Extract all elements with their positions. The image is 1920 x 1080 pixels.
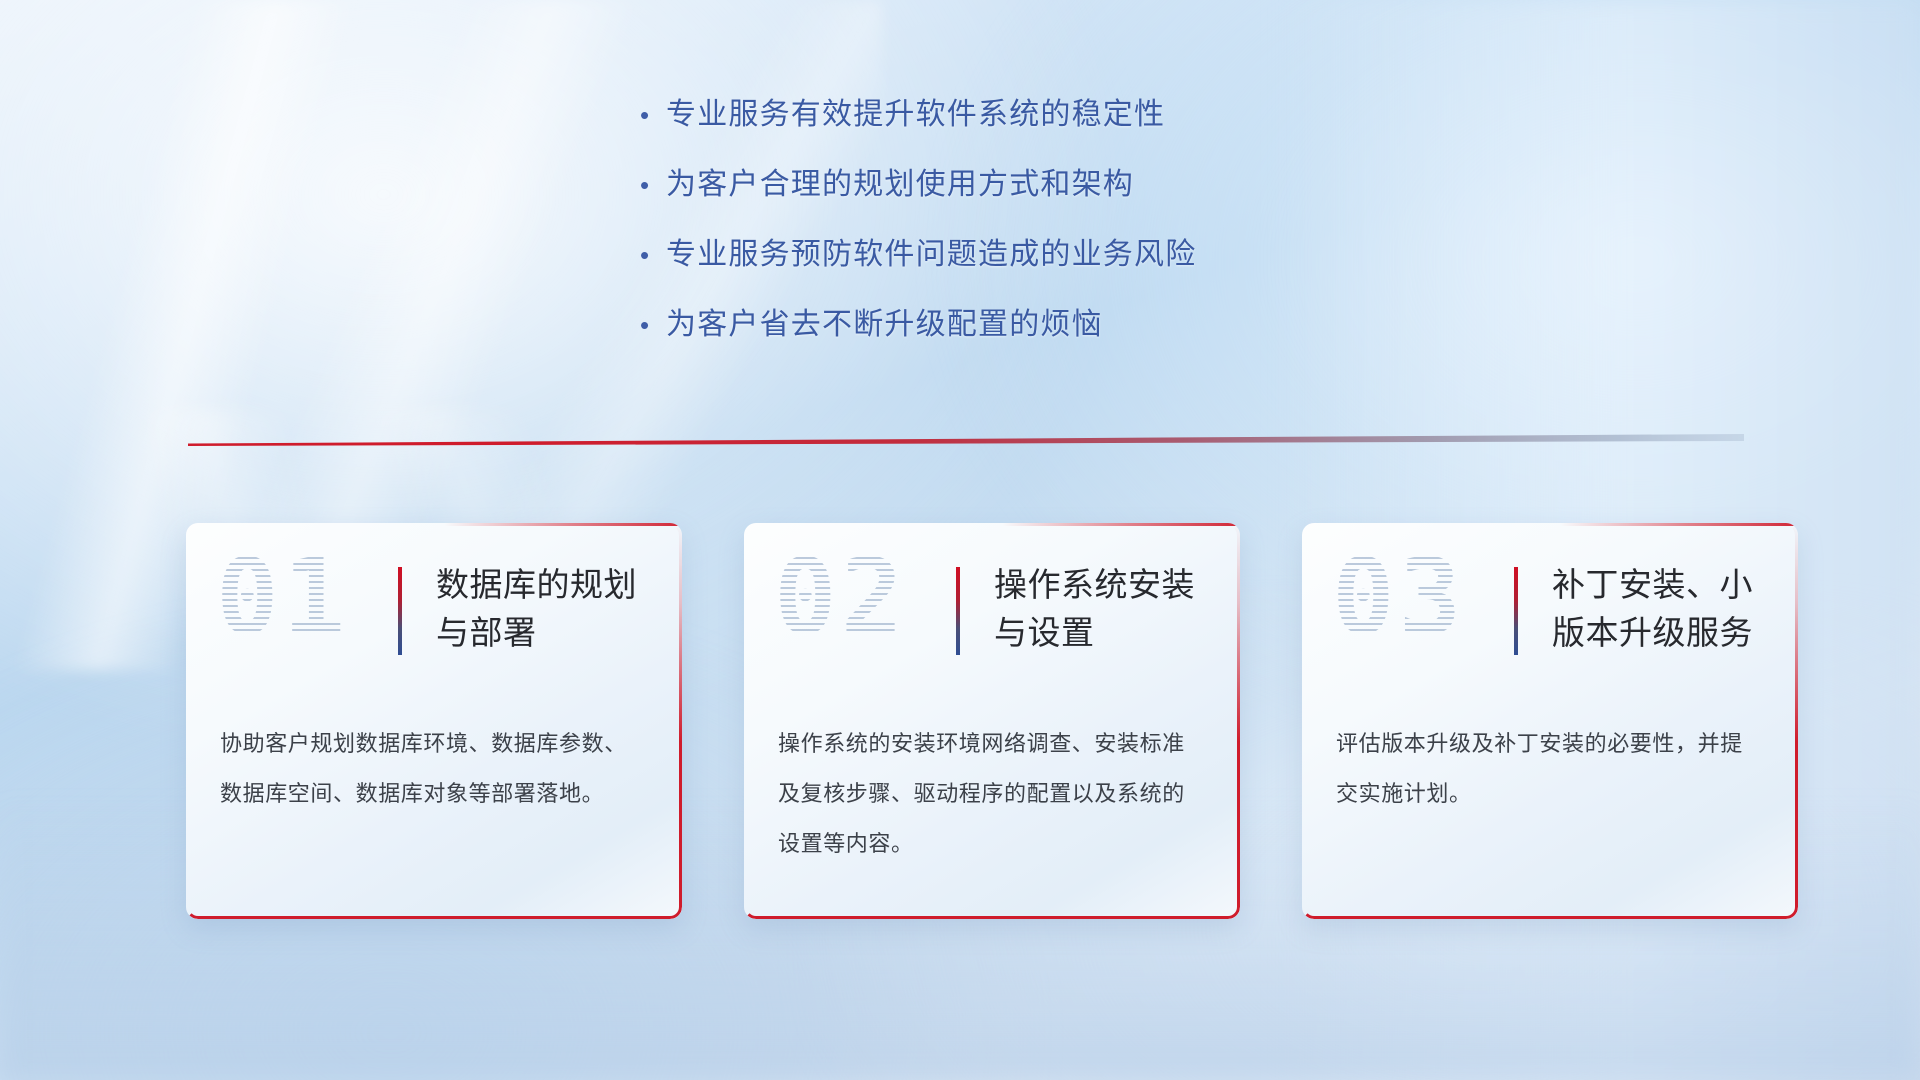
section-divider (188, 434, 1744, 448)
card-number-watermark: 01 (216, 545, 349, 649)
card-title: 操作系统安装与设置 (994, 561, 1224, 657)
bullet-dot-icon: • (640, 305, 666, 345)
card-description: 协助客户规划数据库环境、数据库参数、数据库空间、数据库对象等部署落地。 (220, 719, 648, 819)
card-title: 补丁安装、小版本升级服务 (1552, 561, 1782, 657)
card-title-divider-bar (398, 567, 402, 655)
service-card-02[interactable]: 02 操作系统安装与设置 操作系统的安装环境网络调查、安装标准及复核步骤、驱动程… (744, 523, 1240, 919)
service-card-03[interactable]: 03 补丁安装、小版本升级服务 评估版本升级及补丁安装的必要性，并提交实施计划。 (1302, 523, 1798, 919)
card-number-watermark: 02 (774, 545, 907, 649)
card-title-divider-bar (956, 567, 960, 655)
card-header: 03 补丁安装、小版本升级服务 (1302, 523, 1798, 691)
bullet-text: 为客户省去不断升级配置的烦恼 (666, 305, 1103, 345)
list-item: • 为客户合理的规划使用方式和架构 (640, 165, 1420, 205)
card-number-watermark: 03 (1332, 545, 1465, 649)
list-item: • 专业服务有效提升软件系统的稳定性 (640, 95, 1420, 135)
card-title-divider-bar (1514, 567, 1518, 655)
bullet-text: 专业服务有效提升软件系统的稳定性 (666, 95, 1165, 135)
card-description: 评估版本升级及补丁安装的必要性，并提交实施计划。 (1336, 719, 1764, 819)
service-card-list: 01 数据库的规划与部署 协助客户规划数据库环境、数据库参数、数据库空间、数据库… (186, 523, 1798, 919)
bullet-dot-icon: • (640, 95, 666, 135)
service-card-01[interactable]: 01 数据库的规划与部署 协助客户规划数据库环境、数据库参数、数据库空间、数据库… (186, 523, 682, 919)
divider-line-icon (188, 434, 1744, 448)
card-header: 02 操作系统安装与设置 (744, 523, 1240, 691)
list-item: • 为客户省去不断升级配置的烦恼 (640, 305, 1420, 345)
bullet-dot-icon: • (640, 165, 666, 205)
bullet-dot-icon: • (640, 235, 666, 275)
list-item: • 专业服务预防软件问题造成的业务风险 (640, 235, 1420, 275)
bullet-text: 专业服务预防软件问题造成的业务风险 (666, 235, 1196, 275)
card-description: 操作系统的安装环境网络调查、安装标准及复核步骤、驱动程序的配置以及系统的设置等内… (778, 719, 1206, 869)
card-header: 01 数据库的规划与部署 (186, 523, 682, 691)
benefit-bullet-list: • 专业服务有效提升软件系统的稳定性 • 为客户合理的规划使用方式和架构 • 专… (640, 95, 1420, 375)
card-title: 数据库的规划与部署 (436, 561, 666, 657)
bullet-text: 为客户合理的规划使用方式和架构 (666, 165, 1134, 205)
